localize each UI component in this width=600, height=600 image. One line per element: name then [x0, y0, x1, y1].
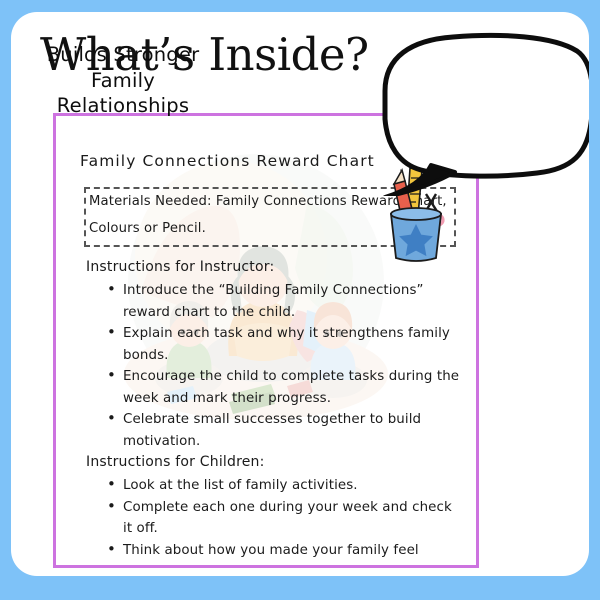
callout-speech-bubble: [377, 31, 589, 196]
list-item: Look at the list of family activities.: [106, 475, 461, 497]
list-item: Complete each one during your week and c…: [106, 497, 461, 540]
materials-line-2: Colours or Pencil.: [89, 221, 206, 236]
poster-page: What’s Inside?: [0, 0, 600, 600]
list-item: Think about how you made your family fee…: [106, 540, 461, 569]
list-item: Celebrate small successes together to bu…: [106, 409, 461, 452]
callout-line-1: Builds Stronger: [27, 42, 219, 68]
children-bullet-list: Look at the list of family activities. C…: [106, 475, 461, 568]
callout-text: Builds Stronger Family Relationships: [27, 42, 219, 119]
worksheet-title: Family Connections Reward Chart: [80, 152, 375, 170]
list-item: Introduce the “Building Family Connectio…: [106, 280, 461, 323]
callout-line-2: Family: [27, 68, 219, 94]
worksheet-frame-bottom-edge: [53, 565, 479, 568]
callout-line-3: Relationships: [27, 93, 219, 119]
white-card: What’s Inside?: [11, 12, 589, 576]
list-item: Encourage the child to complete tasks du…: [106, 366, 461, 409]
instructor-section-heading: Instructions for Instructor:: [86, 259, 274, 275]
instructor-bullet-list: Introduce the “Building Family Connectio…: [106, 280, 461, 452]
children-section-heading: Instructions for Children:: [86, 454, 265, 470]
list-item: Explain each task and why it strengthens…: [106, 323, 461, 366]
